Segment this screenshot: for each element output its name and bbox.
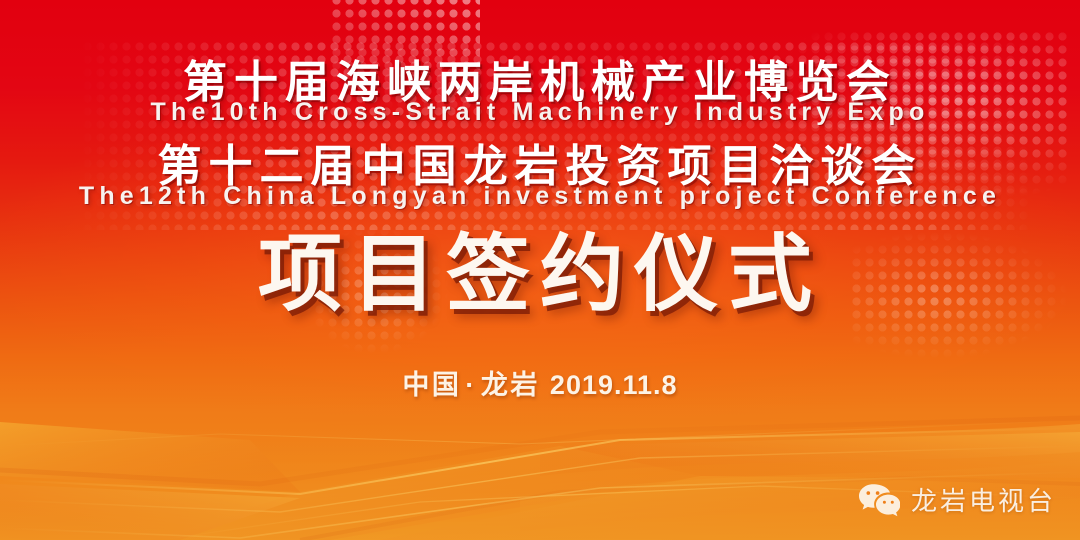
location-separator: ·: [461, 370, 481, 400]
location-city: 龙岩: [481, 370, 540, 400]
location-country: 中国: [402, 370, 461, 400]
main-headline: 项目签约仪式: [0, 232, 1080, 316]
wechat-icon: [858, 483, 900, 517]
watermark-label: 龙岩电视台: [911, 481, 1056, 518]
event-date: 2019.11.8: [540, 370, 678, 400]
poster-text-content: 第十届海峡两岸机械产业博览会 The10th Cross-Strait Mach…: [0, 0, 1080, 540]
event-title-en-primary: The10th Cross-Strait Machinery Industry …: [0, 98, 1080, 127]
channel-watermark: 龙岩电视台: [858, 481, 1056, 518]
poster-canvas: 第十届海峡两岸机械产业博览会 The10th Cross-Strait Mach…: [0, 0, 1080, 540]
location-date-line: 中国·龙岩2019.11.8: [0, 363, 1080, 402]
event-title-en-secondary: The12th China Longyan investment project…: [0, 182, 1080, 211]
